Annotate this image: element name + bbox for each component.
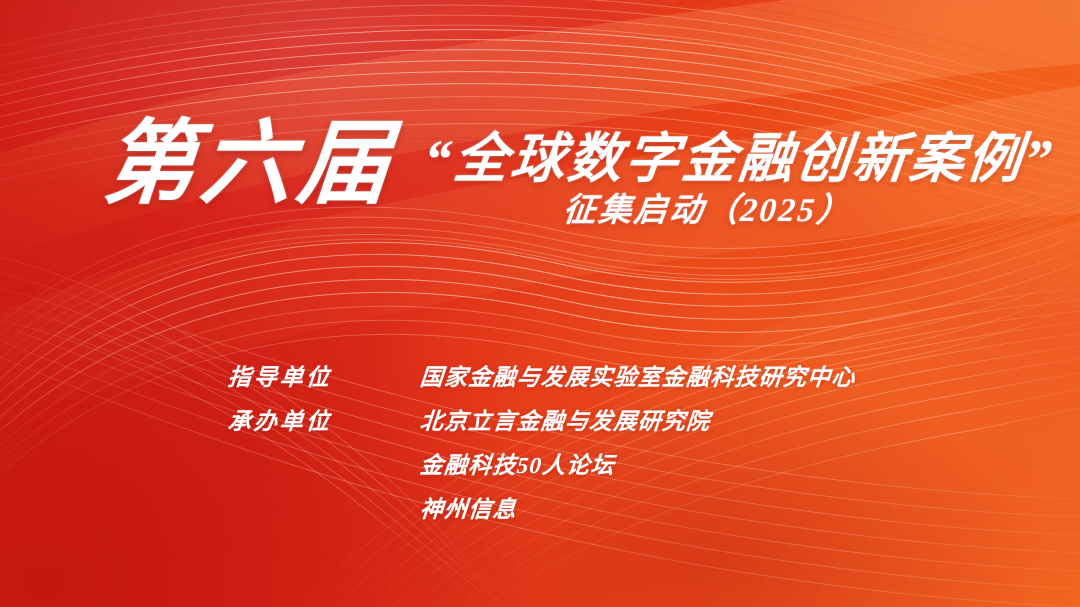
credit-value-partner: 神州信息 [418,488,970,532]
credit-value-organizer: 北京立言金融与发展研究院 [418,400,970,444]
credit-row: 金融科技50人论坛 [228,444,968,488]
credit-row: 指导单位 国家金融与发展实验室金融科技研究中心 [228,356,968,400]
poster-canvas: 第六届 “全球数字金融创新案例” 征集启动（2025） 指导单位 国家金融与发展… [0,0,1080,607]
credit-value-guidance: 国家金融与发展实验室金融科技研究中心 [418,356,970,400]
credit-label-guidance: 指导单位 [226,356,422,400]
page-title-ordinal: 第六届 [100,114,400,214]
page-title-quoted: “全球数字金融创新案例” [421,128,1058,190]
poster-content: 第六届 “全球数字金融创新案例” 征集启动（2025） 指导单位 国家金融与发展… [0,0,1080,607]
page-subtitle: 征集启动（2025） [561,190,854,232]
credit-label-organizer: 承办单位 [226,400,422,444]
credit-row: 承办单位 北京立言金融与发展研究院 [228,400,968,444]
credits-block: 指导单位 国家金融与发展实验室金融科技研究中心 承办单位 北京立言金融与发展研究… [228,356,968,532]
credit-value-forum: 金融科技50人论坛 [418,444,970,488]
credit-row: 神州信息 [228,488,968,532]
headline-row: 第六届 “全球数字金融创新案例” [0,112,1080,222]
